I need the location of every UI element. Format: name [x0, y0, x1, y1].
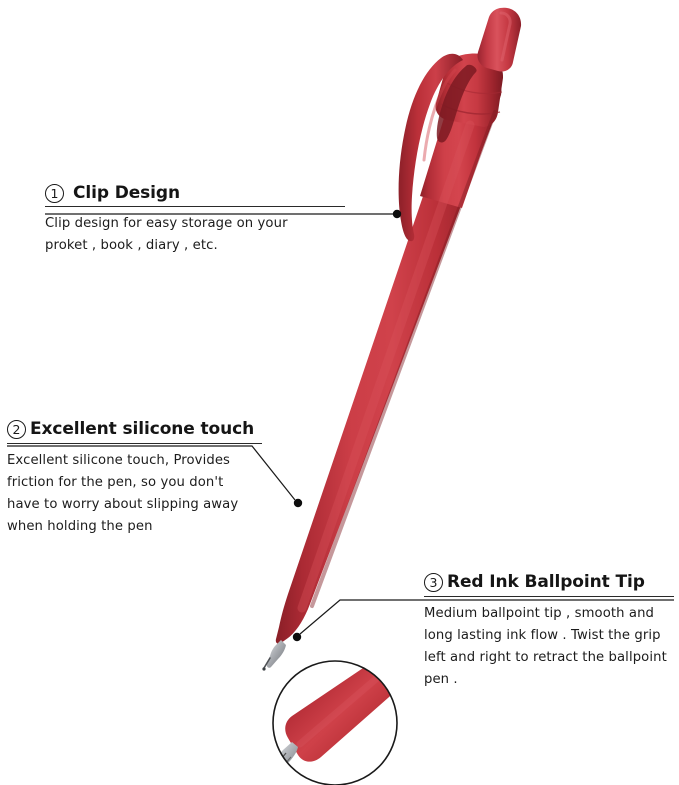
pen-shoulder	[436, 54, 504, 127]
pen-clip	[399, 54, 463, 241]
callout-2-heading: 2 Excellent silicone touch	[7, 419, 269, 439]
callout-1-title: Clip Design	[73, 183, 180, 203]
infographic-canvas: 1 Clip Design Clip design for easy stora…	[0, 0, 679, 785]
magnified-cone-highlight	[300, 672, 384, 744]
pen-plunger	[477, 8, 521, 72]
callout-3-heading: 3 Red Ink Ballpoint Tip	[424, 572, 674, 592]
callout-3-body: Medium ballpoint tip , smooth and long l…	[424, 603, 669, 691]
callout-2-title: Excellent silicone touch	[30, 419, 254, 439]
callout-3-title: Red Ink Ballpoint Tip	[447, 572, 645, 592]
callout-ballpoint-tip: 3 Red Ink Ballpoint Tip Medium ballpoint…	[424, 572, 674, 691]
magnified-metal-tip	[268, 742, 298, 778]
callout-2-divider	[7, 443, 262, 444]
pen-seam-highlight-2	[447, 83, 502, 94]
callout-3-number: 3	[424, 573, 443, 592]
pen-tip	[262, 640, 286, 671]
clip-highlight	[424, 70, 455, 160]
callout-silicone-touch: 2 Excellent silicone touch Excellent sil…	[7, 419, 269, 538]
callout-3-divider	[424, 596, 674, 597]
callout-2-body: Excellent silicone touch, Provides frict…	[7, 450, 257, 538]
tip-detail-magnifier	[268, 659, 402, 785]
pen-grip-section	[276, 87, 499, 644]
callout-1-divider	[45, 206, 345, 207]
plunger-highlight	[501, 13, 510, 60]
callout-1-heading: 1 Clip Design	[45, 183, 350, 203]
magnified-grip-cone	[285, 659, 401, 761]
callout-2-number: 2	[7, 420, 26, 439]
callout-1-number: 1	[45, 184, 64, 203]
pen-barrel	[420, 69, 501, 208]
clip-gap-shadow	[437, 65, 477, 143]
callout-clip-design: 1 Clip Design Clip design for easy stora…	[45, 183, 350, 257]
pen-seam-highlight	[441, 104, 500, 114]
callout-1-body: Clip design for easy storage on your pro…	[45, 213, 305, 257]
